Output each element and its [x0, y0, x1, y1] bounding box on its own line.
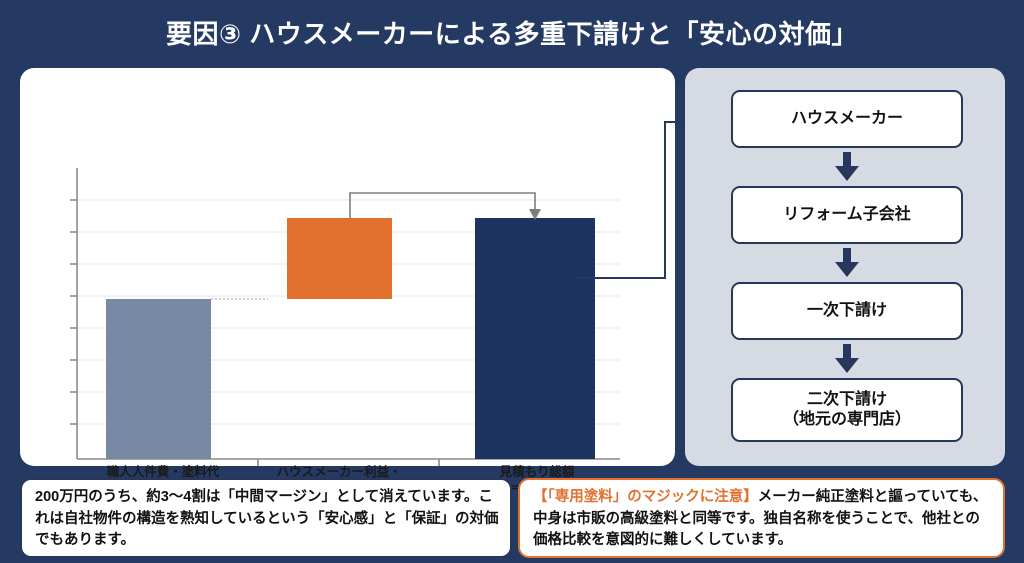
- note-paint-warning: 【「専用塗料」のマジックに注意】メーカー純正塗料と謳っていても、中身は市販の高級…: [518, 478, 1005, 558]
- note-margin-explanation: 200万円のうち、約3～4割は「中間マージン」として消えています。これは自社物件…: [20, 478, 512, 558]
- flow-box-house-maker-label: ハウスメーカー: [791, 109, 903, 129]
- flow-box-secondary-subcontractor-sublabel: （地元の専門店）: [783, 410, 911, 430]
- note-margin-explanation-text: 200万円のうち、約3～4割は「中間マージン」として消えています。これは自社物件…: [35, 489, 499, 548]
- flow-box-house-maker[interactable]: ハウスメーカー: [731, 90, 963, 148]
- bar-craftsman-cost: [106, 299, 211, 459]
- flow-box-reform-subsidiary[interactable]: リフォーム子会社: [731, 186, 963, 244]
- chart-y-axis: [70, 168, 77, 459]
- page-title: 要因③ ハウスメーカーによる多重下請けと「安心の対価」: [0, 8, 1024, 56]
- flow-box-reform-subsidiary-label: リフォーム子会社: [783, 205, 911, 225]
- subcontract-flow-card: ハウスメーカー リフォーム子会社 一次下請け 二次下請け （地元の専門店）: [685, 68, 1005, 466]
- flow-box-secondary-subcontractor-label: 二次下請け: [807, 390, 887, 410]
- flow-arrow-down-1: [833, 152, 861, 182]
- flow-arrow-down-3: [833, 344, 861, 374]
- bar-maker-margin: [287, 218, 392, 299]
- bracket-arrow-annotation: [350, 193, 535, 218]
- flow-box-primary-subcontractor[interactable]: 一次下請け: [731, 282, 963, 340]
- note-paint-warning-emphasis: 【「専用塗料」のマジックに注意】: [533, 489, 758, 505]
- flow-box-secondary-subcontractor[interactable]: 二次下請け （地元の専門店）: [731, 378, 963, 442]
- flow-box-primary-subcontractor-label: 一次下請け: [807, 301, 887, 321]
- flow-arrow-down-2: [833, 248, 861, 278]
